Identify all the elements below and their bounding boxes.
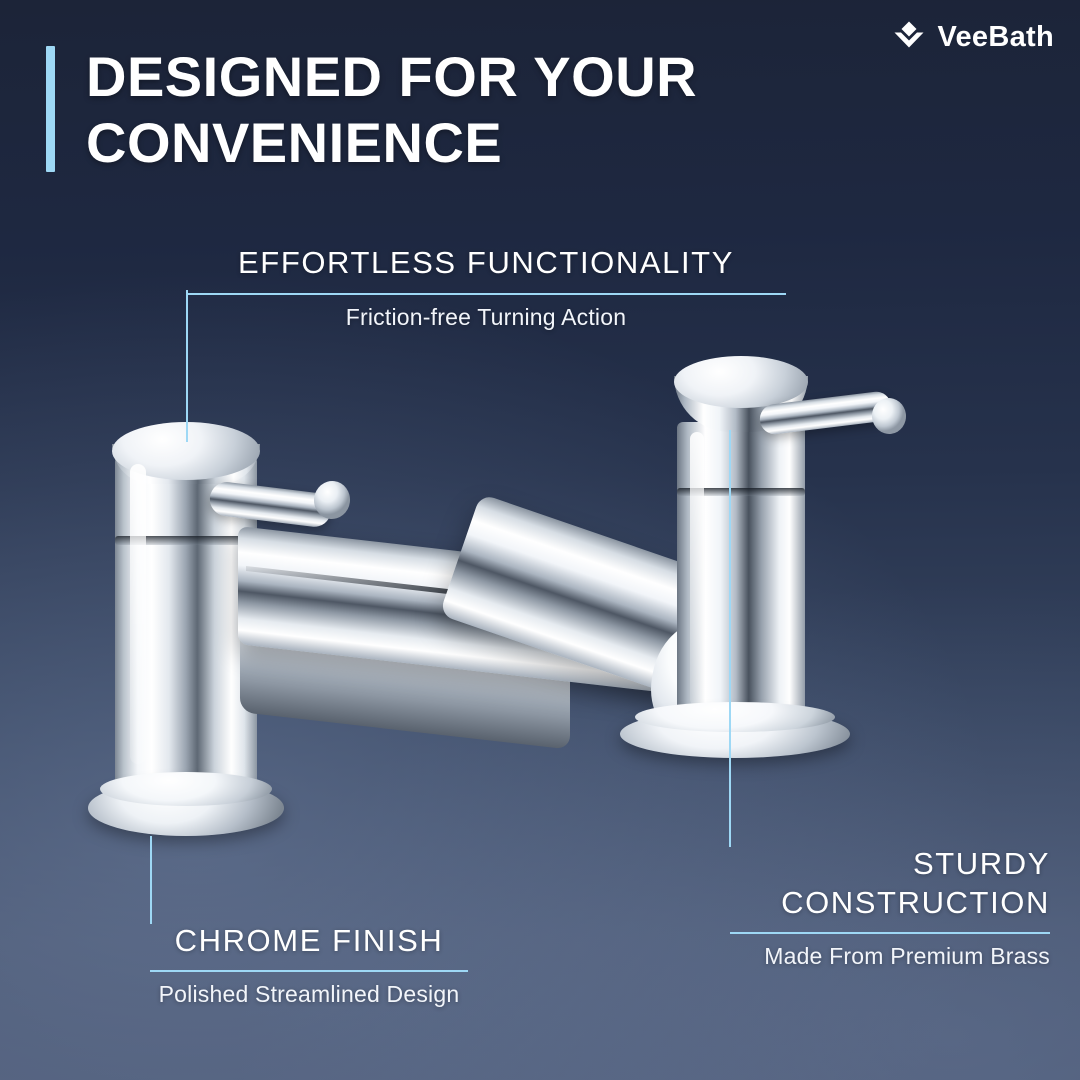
brand-logo: VeeBath [892,20,1054,54]
connector-line-chrome-finish [150,836,152,924]
page-title: DESIGNED FOR YOUR CONVENIENCE [86,44,846,175]
chevron-diamond-icon [892,20,926,54]
callout-title-line-2: CONSTRUCTION [730,884,1050,923]
connector-line-sturdy-construction [729,430,731,847]
page-title-line-2: CONVENIENCE [86,110,846,176]
brand-name: VeeBath [937,23,1054,52]
right-valve-base-top [635,702,835,732]
right-valve-cap [674,356,808,408]
callout-title: CHROME FINISH [150,922,468,961]
callout-underline [730,932,1050,934]
product-image-chrome-tap [60,340,960,870]
callout-effortless-functionality: EFFORTLESS FUNCTIONALITY Friction-free T… [186,244,786,333]
callout-subtitle: Polished Streamlined Design [150,980,468,1010]
page-title-line-1: DESIGNED FOR YOUR [86,44,846,110]
callout-subtitle: Made From Premium Brass [730,942,1050,972]
right-valve-body [677,422,805,722]
left-valve-base-top [100,772,272,806]
marketing-banner: DESIGNED FOR YOUR CONVENIENCE VeeBath [0,0,1080,1080]
left-valve-seam [115,536,257,545]
callout-chrome-finish: CHROME FINISH Polished Streamlined Desig… [150,922,468,1010]
callout-subtitle: Friction-free Turning Action [186,303,786,333]
callout-title-line-1: STURDY [730,845,1050,884]
right-valve-seam [677,488,805,496]
callout-underline [186,293,786,295]
callout-title: EFFORTLESS FUNCTIONALITY [186,244,786,283]
callout-sturdy-construction: STURDY CONSTRUCTION Made From Premium Br… [730,845,1050,971]
headline-accent-bar [46,46,55,172]
callout-underline [150,970,468,972]
